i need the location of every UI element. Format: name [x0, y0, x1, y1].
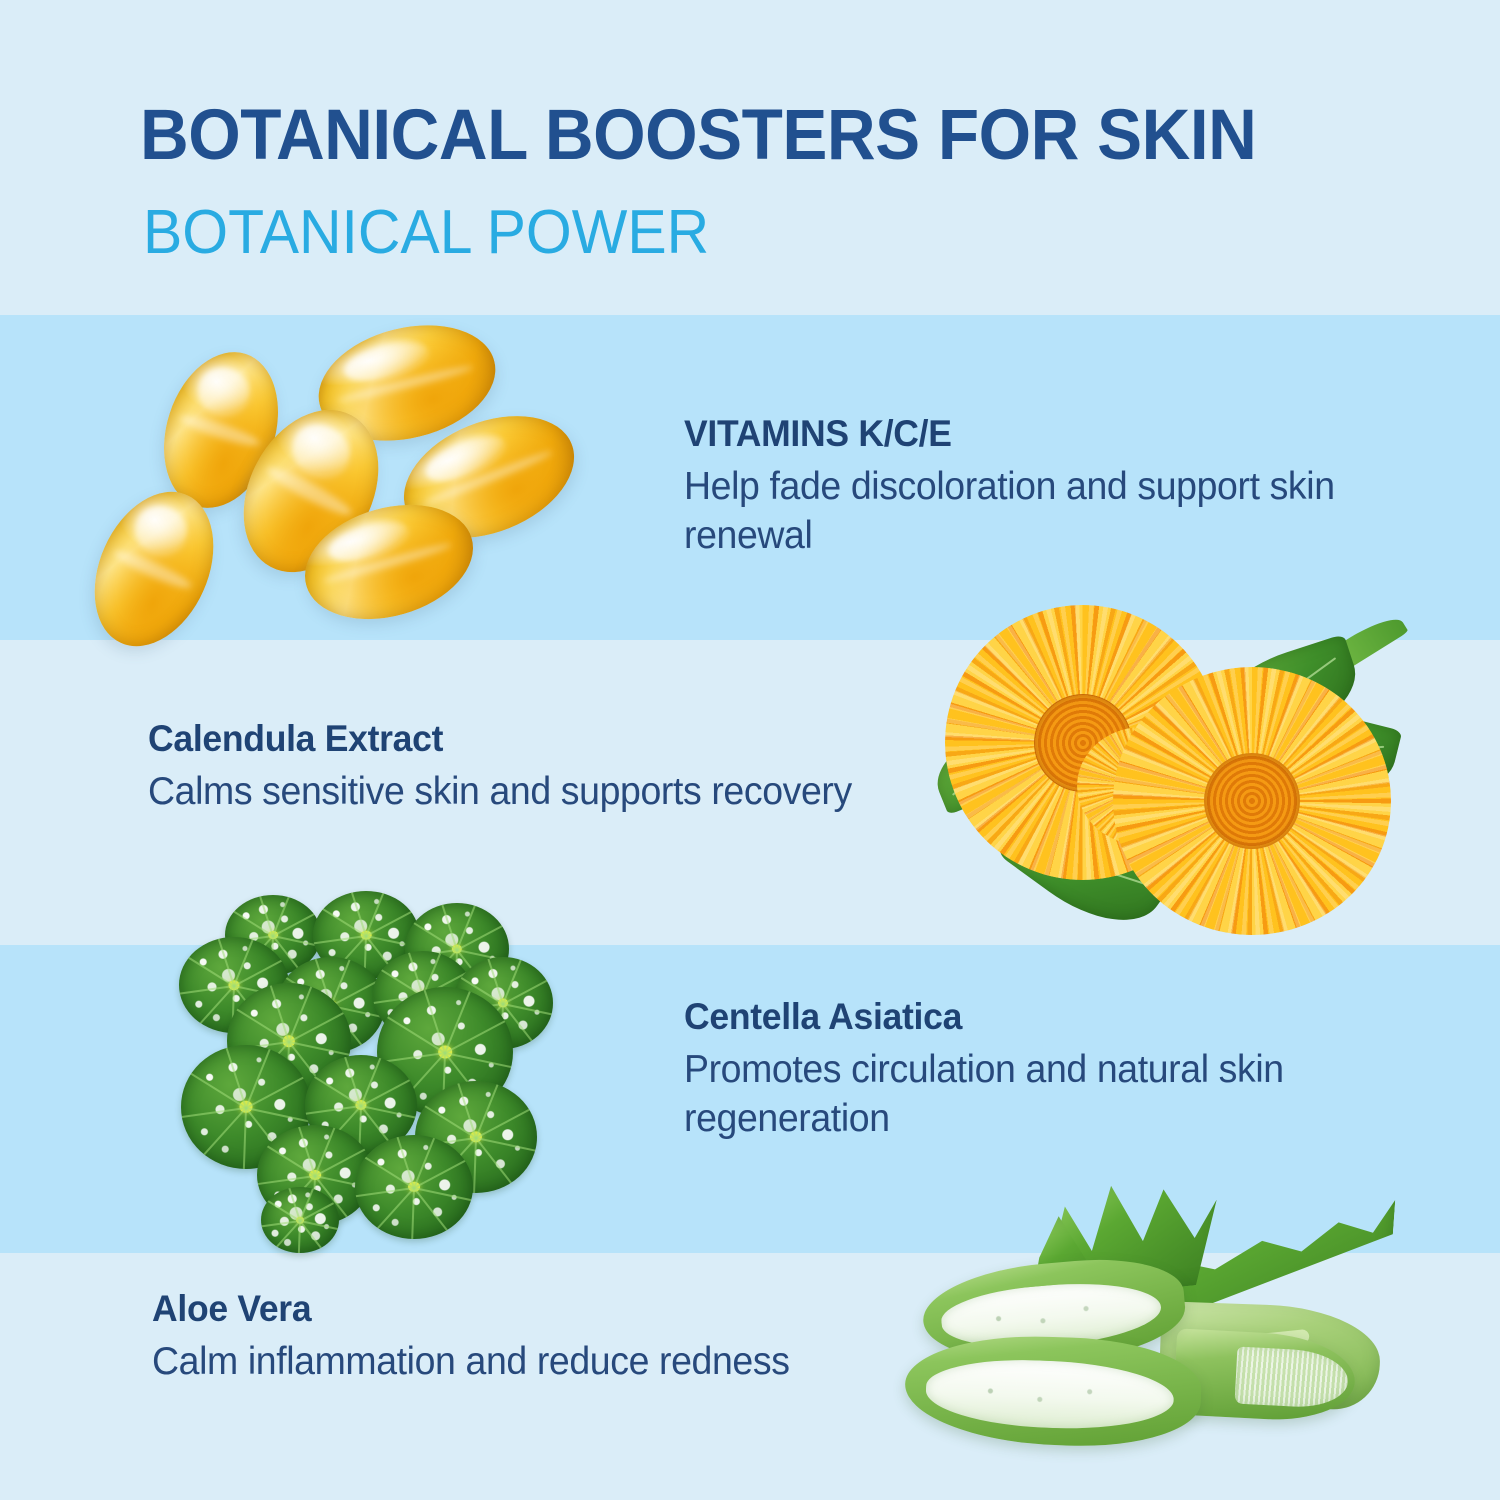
calendula-flowers-image: [925, 595, 1415, 925]
ingredient-block-vitamins: VITAMINS K/C/E Help fade discoloration a…: [684, 413, 1364, 561]
centella-leaf-icon: [261, 1187, 339, 1253]
calendula-flower-icon: [1113, 667, 1391, 935]
ingredient-name: Aloe Vera: [152, 1288, 882, 1331]
header: BOTANICAL BOOSTERS FOR SKIN BOTANICAL PO…: [0, 0, 1500, 315]
centella-leaf-icon: [355, 1135, 473, 1239]
aloe-vera-image: [905, 1185, 1405, 1500]
ingredient-name: VITAMINS K/C/E: [684, 413, 1337, 456]
aloe-slice-icon: [903, 1332, 1203, 1450]
ingredient-description: Help fade discoloration and support skin…: [684, 462, 1337, 562]
page-subtitle: BOTANICAL POWER: [143, 197, 709, 268]
centella-leaves-image: [165, 895, 565, 1265]
ingredient-block-aloe: Aloe Vera Calm inflammation and reduce r…: [152, 1288, 912, 1386]
vitamin-capsules-image: [95, 330, 615, 630]
ingredient-block-centella: Centella Asiatica Promotes circulation a…: [684, 996, 1324, 1144]
ingredient-name: Calendula Extract: [148, 718, 935, 761]
ingredient-description: Calm inflammation and reduce redness: [152, 1337, 882, 1387]
page-title: BOTANICAL BOOSTERS FOR SKIN: [140, 95, 1256, 176]
ingredient-name: Centella Asiatica: [684, 996, 1298, 1039]
ingredient-description: Promotes circulation and natural skin re…: [684, 1045, 1298, 1145]
ingredient-description: Calms sensitive skin and supports recove…: [148, 767, 935, 817]
ingredient-block-calendula: Calendula Extract Calms sensitive skin a…: [148, 718, 968, 816]
